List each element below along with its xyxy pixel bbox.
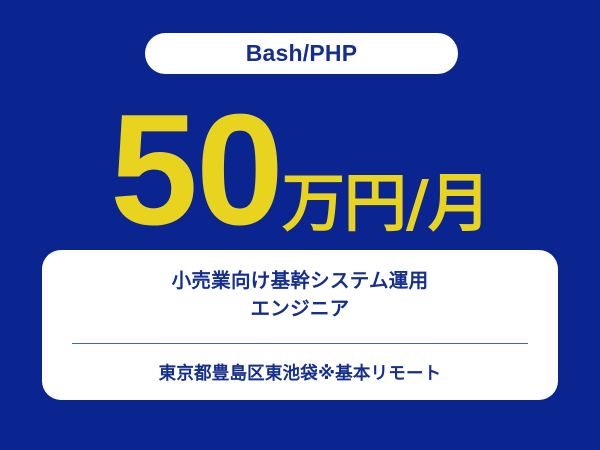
price-block: 50 万円/月 xyxy=(0,103,600,233)
job-title-line-1: 小売業向け基幹システム運用 xyxy=(172,267,429,295)
job-title-line-2: エンジニア xyxy=(172,295,429,323)
skill-tag-badge: Bash/PHP xyxy=(145,33,458,74)
skill-tag-label: Bash/PHP xyxy=(246,42,358,65)
price-amount: 50 xyxy=(110,107,282,233)
job-offer-card: Bash/PHP 50 万円/月 小売業向け基幹システム運用 エンジニア 東京都… xyxy=(0,0,600,450)
job-title: 小売業向け基幹システム運用 エンジニア xyxy=(172,267,429,324)
price-unit: 万円/月 xyxy=(282,178,490,233)
card-divider xyxy=(72,343,528,345)
job-location: 東京都豊島区東池袋※基本リモート xyxy=(159,363,442,386)
job-info-card: 小売業向け基幹システム運用 エンジニア 東京都豊島区東池袋※基本リモート xyxy=(42,250,558,400)
